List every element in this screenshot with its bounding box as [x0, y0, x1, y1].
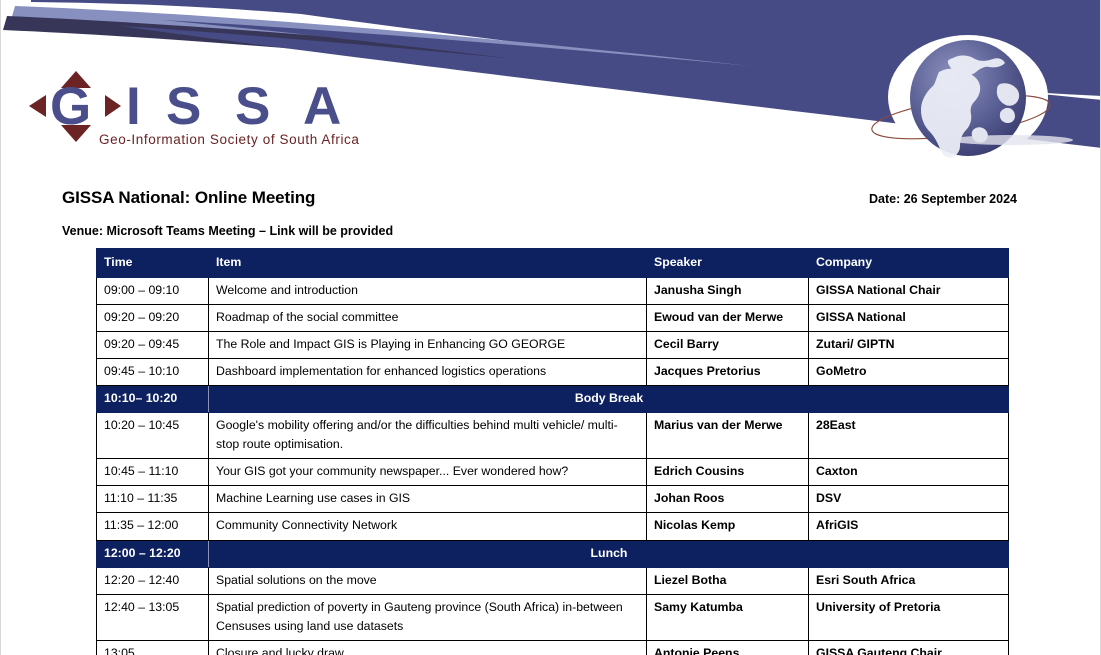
globe-shadow: [949, 135, 1073, 145]
table-row: 12:20 – 12:40Spatial solutions on the mo…: [97, 567, 1009, 594]
cell-company: Esri South Africa: [809, 567, 1009, 594]
cell-company: University of Pretoria: [809, 594, 1009, 640]
agenda-table: Time Item Speaker Company 09:00 – 09:10W…: [96, 248, 1009, 655]
agenda-table-body: 09:00 – 09:10Welcome and introductionJan…: [97, 278, 1009, 655]
cell-time: 11:35 – 12:00: [97, 513, 209, 540]
table-row: 13:05Closure and lucky drawAntonie Peens…: [97, 640, 1009, 655]
table-row-break: 12:00 – 12:20Lunch: [97, 540, 1009, 567]
table-row: 10:20 – 10:45Google's mobility offering …: [97, 413, 1009, 459]
cell-break-label: Body Break: [209, 386, 1009, 413]
agenda-table-container: Time Item Speaker Company 09:00 – 09:10W…: [96, 248, 1008, 655]
cell-item: Machine Learning use cases in GIS: [209, 486, 647, 513]
logo-letter-g: G: [50, 77, 91, 136]
logo-letter-s2: S: [235, 77, 270, 136]
logo-wordmark: G I S S A: [50, 77, 341, 136]
cell-break-label: Lunch: [209, 540, 1009, 567]
cell-time: 12:40 – 13:05: [97, 594, 209, 640]
cell-speaker: Johan Roos: [647, 486, 809, 513]
cell-time: 11:10 – 11:35: [97, 486, 209, 513]
cell-time: 12:20 – 12:40: [97, 567, 209, 594]
cell-time: 09:00 – 09:10: [97, 278, 209, 305]
table-row: 12:40 – 13:05Spatial prediction of pover…: [97, 594, 1009, 640]
logo-letter-a: A: [303, 77, 341, 136]
cell-company: 28East: [809, 413, 1009, 459]
column-header-time: Time: [97, 249, 209, 278]
document-page: G I S S A Geo-Information Society of Sou…: [0, 0, 1101, 655]
cell-time: 09:20 – 09:20: [97, 305, 209, 332]
table-row: 11:35 – 12:00Community Connectivity Netw…: [97, 513, 1009, 540]
cell-speaker: Samy Katumba: [647, 594, 809, 640]
cell-time: 10:10– 10:20: [97, 386, 209, 413]
cell-company: GISSA National Chair: [809, 278, 1009, 305]
cell-speaker: Nicolas Kemp: [647, 513, 809, 540]
cell-item: Google's mobility offering and/or the di…: [209, 413, 647, 459]
gissa-logo: G I S S A Geo-Information Society of Sou…: [23, 68, 423, 148]
table-row: 09:20 – 09:45The Role and Impact GIS is …: [97, 332, 1009, 359]
meeting-venue: Venue: Microsoft Teams Meeting – Link wi…: [62, 224, 393, 238]
cell-item: The Role and Impact GIS is Playing in En…: [209, 332, 647, 359]
cell-company: GoMetro: [809, 359, 1009, 386]
table-row: 11:10 – 11:35Machine Learning use cases …: [97, 486, 1009, 513]
cell-item: Community Connectivity Network: [209, 513, 647, 540]
cell-speaker: Jacques Pretorius: [647, 359, 809, 386]
cell-company: Caxton: [809, 459, 1009, 486]
cell-company: Zutari/ GIPTN: [809, 332, 1009, 359]
cell-item: Your GIS got your community newspaper...…: [209, 459, 647, 486]
table-row: 09:45 – 10:10Dashboard implementation fo…: [97, 359, 1009, 386]
logo-letter-i: I: [126, 77, 141, 136]
cell-speaker: Ewoud van der Merwe: [647, 305, 809, 332]
cell-time: 09:45 – 10:10: [97, 359, 209, 386]
cell-speaker: Marius van der Merwe: [647, 413, 809, 459]
arrow-right-icon: [105, 95, 121, 117]
cell-company: GISSA Gauteng Chair: [809, 640, 1009, 655]
cell-item: Closure and lucky draw: [209, 640, 647, 655]
cell-time: 10:20 – 10:45: [97, 413, 209, 459]
cell-time: 09:20 – 09:45: [97, 332, 209, 359]
page-title: GISSA National: Online Meeting: [62, 188, 315, 208]
cell-company: AfriGIS: [809, 513, 1009, 540]
table-row: 09:00 – 09:10Welcome and introductionJan…: [97, 278, 1009, 305]
title-row: GISSA National: Online Meeting Date: 26 …: [62, 188, 1017, 208]
meeting-date: Date: 26 September 2024: [869, 192, 1017, 206]
cell-time: 10:45 – 11:10: [97, 459, 209, 486]
cell-item: Roadmap of the social committee: [209, 305, 647, 332]
logo-letter-s1: S: [166, 77, 201, 136]
cell-speaker: Liezel Botha: [647, 567, 809, 594]
arrow-left-icon: [29, 95, 46, 117]
table-row: 09:20 – 09:20Roadmap of the social commi…: [97, 305, 1009, 332]
column-header-speaker: Speaker: [647, 249, 809, 278]
cell-time: 12:00 – 12:20: [97, 540, 209, 567]
cell-speaker: Janusha Singh: [647, 278, 809, 305]
cell-item: Dashboard implementation for enhanced lo…: [209, 359, 647, 386]
table-row-break: 10:10– 10:20Body Break: [97, 386, 1009, 413]
table-row: 10:45 – 11:10Your GIS got your community…: [97, 459, 1009, 486]
cell-speaker: Edrich Cousins: [647, 459, 809, 486]
logo-tagline: Geo-Information Society of South Africa: [99, 132, 360, 147]
cell-item: Welcome and introduction: [209, 278, 647, 305]
cell-speaker: Antonie Peens: [647, 640, 809, 655]
cell-speaker: Cecil Barry: [647, 332, 809, 359]
column-header-item: Item: [209, 249, 647, 278]
table-header-row: Time Item Speaker Company: [97, 249, 1009, 278]
column-header-company: Company: [809, 249, 1009, 278]
cell-company: DSV: [809, 486, 1009, 513]
cell-item: Spatial prediction of poverty in Gauteng…: [209, 594, 647, 640]
cell-company: GISSA National: [809, 305, 1009, 332]
cell-item: Spatial solutions on the move: [209, 567, 647, 594]
cell-time: 13:05: [97, 640, 209, 655]
